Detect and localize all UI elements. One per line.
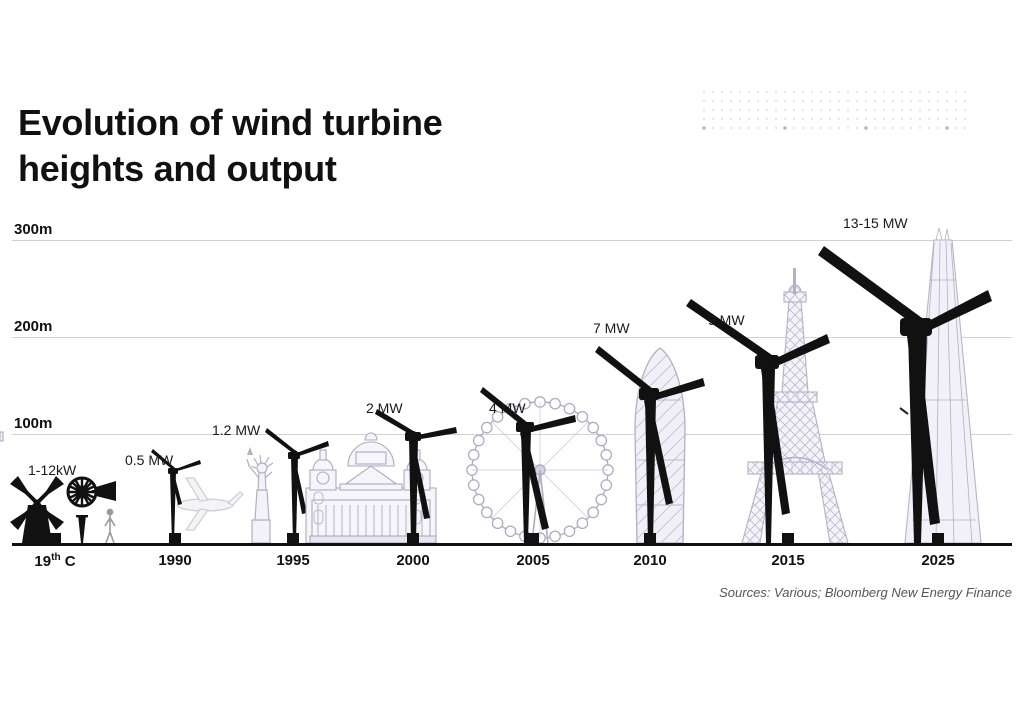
x-axis-baseline — [12, 543, 1012, 546]
x-axis-label-2010: 2010 — [633, 552, 666, 569]
turbine-artwork — [0, 0, 1024, 724]
callout-1-12kw: 1-12kW — [28, 462, 76, 478]
x-tick-2010 — [644, 533, 656, 545]
infographic-canvas: Evolution of wind turbine heights and ou… — [0, 0, 1024, 724]
chart-area: 300m 200m 100m — [0, 0, 1024, 724]
x-tick-2025 — [932, 533, 944, 545]
x-tick-1995 — [287, 533, 299, 545]
x-tick-2015 — [782, 533, 794, 545]
callout-7mw: 7 MW — [593, 320, 630, 336]
group-2015 — [686, 268, 848, 543]
callout-1-2mw: 1.2 MW — [212, 422, 260, 438]
source-note: Sources: Various; Bloomberg New Energy F… — [719, 585, 1012, 600]
callout-9mw: 9 MW — [708, 312, 745, 328]
x-axis-label-1995: 1995 — [276, 552, 309, 569]
x-axis-label-19th-c: 19th C — [34, 552, 75, 570]
x-label-text-0: 19th C — [34, 553, 75, 570]
x-tick-19th-c — [49, 533, 61, 545]
group-19th-century — [10, 476, 116, 543]
group-2010 — [595, 346, 705, 543]
callout-13-15mw: 13-15 MW — [843, 215, 908, 231]
callout-2mw: 2 MW — [366, 400, 403, 416]
callout-4mw: 4 MW — [489, 400, 526, 416]
x-tick-2005 — [527, 533, 539, 545]
x-axis-label-1990: 1990 — [158, 552, 191, 569]
x-tick-2000 — [407, 533, 419, 545]
x-axis-label-2000: 2000 — [396, 552, 429, 569]
callout-0-5mw: 0.5 MW — [125, 452, 173, 468]
group-2025 — [818, 228, 992, 543]
x-axis-label-2025: 2025 — [921, 552, 954, 569]
x-axis-label-2015: 2015 — [771, 552, 804, 569]
x-axis-label-2005: 2005 — [516, 552, 549, 569]
x-tick-1990 — [169, 533, 181, 545]
